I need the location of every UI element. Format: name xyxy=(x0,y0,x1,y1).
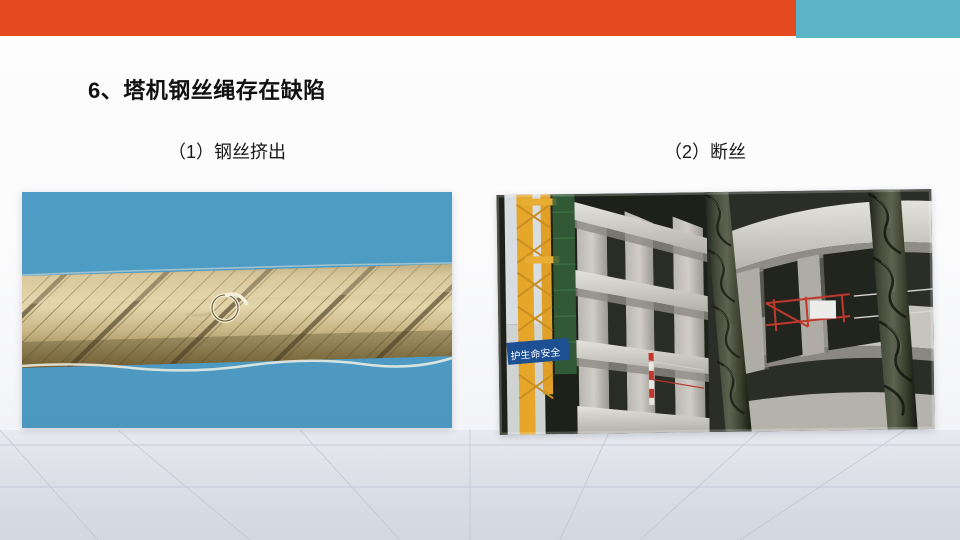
slide-root: 6、塔机钢丝绳存在缺陷 （1）钢丝挤出 （2）断丝 xyxy=(0,0,960,540)
page-title: 6、塔机钢丝绳存在缺陷 xyxy=(88,73,326,105)
teal-top-bar xyxy=(796,0,960,38)
wire-rope-protruding-strand-photo xyxy=(22,192,452,428)
construction-site-broken-wire-photo: 护生命安全 xyxy=(496,189,934,435)
orange-top-bar xyxy=(0,0,796,36)
perspective-grid-floor xyxy=(0,430,960,540)
caption-broken-wire: （2）断丝 xyxy=(664,138,746,164)
caption-wire-extrusion: （1）钢丝挤出 xyxy=(168,138,286,164)
